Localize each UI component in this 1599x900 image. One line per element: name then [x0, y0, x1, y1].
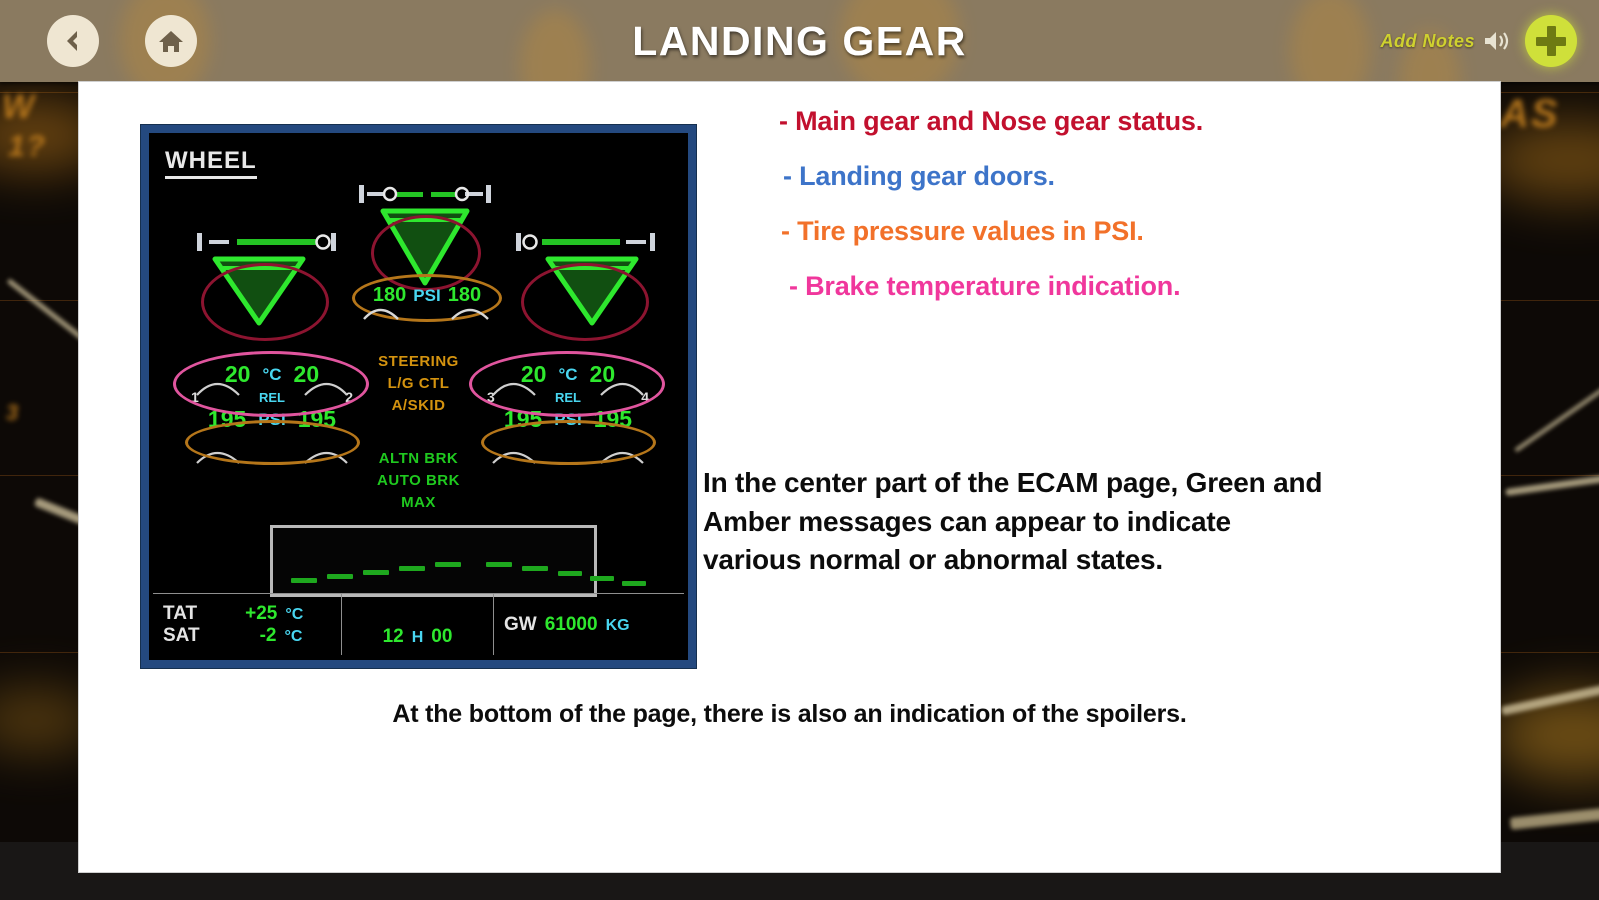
chevron-left-icon — [60, 28, 86, 54]
clock-minutes: 00 — [431, 626, 452, 648]
nose-gear-door-symbol — [359, 185, 491, 203]
left-gear-door-symbol — [197, 233, 336, 251]
left-brake-pressure: 195 PSI 195 — [177, 406, 367, 433]
left-psi-2: 195 — [298, 406, 336, 433]
right-psi-2: 195 — [594, 406, 632, 433]
gw-value: 61000 — [545, 614, 598, 636]
gw-label: GW — [504, 614, 537, 636]
msg-lg-ctl: L/G CTL — [378, 373, 459, 395]
ecam-footer-bar: TAT +25 °C SAT -2 °C 12 H 00 — [153, 593, 684, 655]
clock-separator: H — [412, 629, 424, 647]
nose-gear-triangle — [383, 211, 467, 283]
spoiler-caption: At the bottom of the page, there is also… — [79, 700, 1500, 729]
home-button[interactable] — [145, 15, 197, 67]
speaker-icon[interactable] — [1481, 28, 1515, 54]
ecam-temperatures: TAT +25 °C SAT -2 °C — [153, 594, 341, 655]
back-button[interactable] — [47, 15, 99, 67]
ecam-center-amber-messages: STEERING L/G CTL A/SKID — [378, 351, 459, 418]
notes-group: Add Notes — [1381, 0, 1578, 82]
ecam-clock: 12 H 00 — [341, 594, 494, 655]
nose-psi-arcs — [352, 293, 502, 325]
ecam-description-paragraph: In the center part of the ECAM page, Gre… — [703, 464, 1323, 580]
right-gear-triangle — [548, 259, 636, 323]
left-brake-arcs — [177, 365, 367, 399]
ecam-page-title: WHEEL — [165, 147, 257, 179]
bullet-brake-temperature: - Brake temperature indication. — [769, 271, 1449, 302]
add-note-plus-button[interactable] — [1525, 15, 1577, 67]
right-brake-arcs — [473, 365, 663, 399]
clock-hours: 12 — [383, 626, 404, 648]
sat-label: SAT — [163, 625, 200, 647]
msg-max: MAX — [377, 492, 460, 514]
tat-label: TAT — [163, 603, 197, 625]
msg-auto-brk: AUTO BRK — [377, 470, 460, 492]
sat-unit: °C — [285, 628, 303, 646]
top-bar: LANDING GEAR Add Notes — [0, 0, 1599, 82]
left-psi-unit: PSI — [258, 410, 285, 430]
right-psi-1: 195 — [504, 406, 542, 433]
msg-a-skid: A/SKID — [378, 395, 459, 417]
right-psi-arcs — [473, 433, 663, 467]
left-psi-arcs — [177, 433, 367, 467]
msg-altn-brk: ALTN BRK — [377, 448, 460, 470]
feature-bullet-list: - Main gear and Nose gear status. - Land… — [769, 106, 1449, 326]
nose-gear-indicator — [345, 179, 505, 294]
bullet-gear-status: - Main gear and Nose gear status. — [769, 106, 1449, 137]
tat-value: +25 — [245, 603, 277, 625]
content-sheet: WHEEL — [79, 82, 1500, 872]
home-icon — [157, 27, 185, 55]
msg-steering: STEERING — [378, 351, 459, 373]
left-gear-triangle — [215, 259, 303, 323]
right-brake-pressure: 195 PSI 195 — [473, 406, 663, 433]
left-psi-1: 195 — [208, 406, 246, 433]
right-main-gear-indicator — [506, 231, 666, 331]
ecam-gross-weight: GW 61000 KG — [494, 594, 684, 655]
tat-row: TAT +25 °C — [163, 603, 331, 625]
right-psi-unit: PSI — [554, 410, 581, 430]
gw-unit: KG — [606, 617, 630, 635]
left-main-gear-indicator — [187, 231, 347, 331]
ecam-center-green-messages: ALTN BRK AUTO BRK MAX — [377, 448, 460, 515]
bullet-gear-doors: - Landing gear doors. — [769, 161, 1449, 192]
page-title: LANDING GEAR — [0, 18, 1599, 65]
right-gear-door-symbol — [516, 233, 655, 251]
ecam-screen: WHEEL — [149, 133, 688, 660]
add-notes-label[interactable]: Add Notes — [1381, 31, 1476, 52]
ecam-display-panel: WHEEL — [140, 124, 697, 669]
sat-value: -2 — [260, 625, 277, 647]
spoiler-indication-box — [270, 525, 597, 597]
bullet-tire-pressure: - Tire pressure values in PSI. — [769, 216, 1449, 247]
sat-row: SAT -2 °C — [163, 625, 331, 647]
tat-unit: °C — [285, 606, 303, 624]
